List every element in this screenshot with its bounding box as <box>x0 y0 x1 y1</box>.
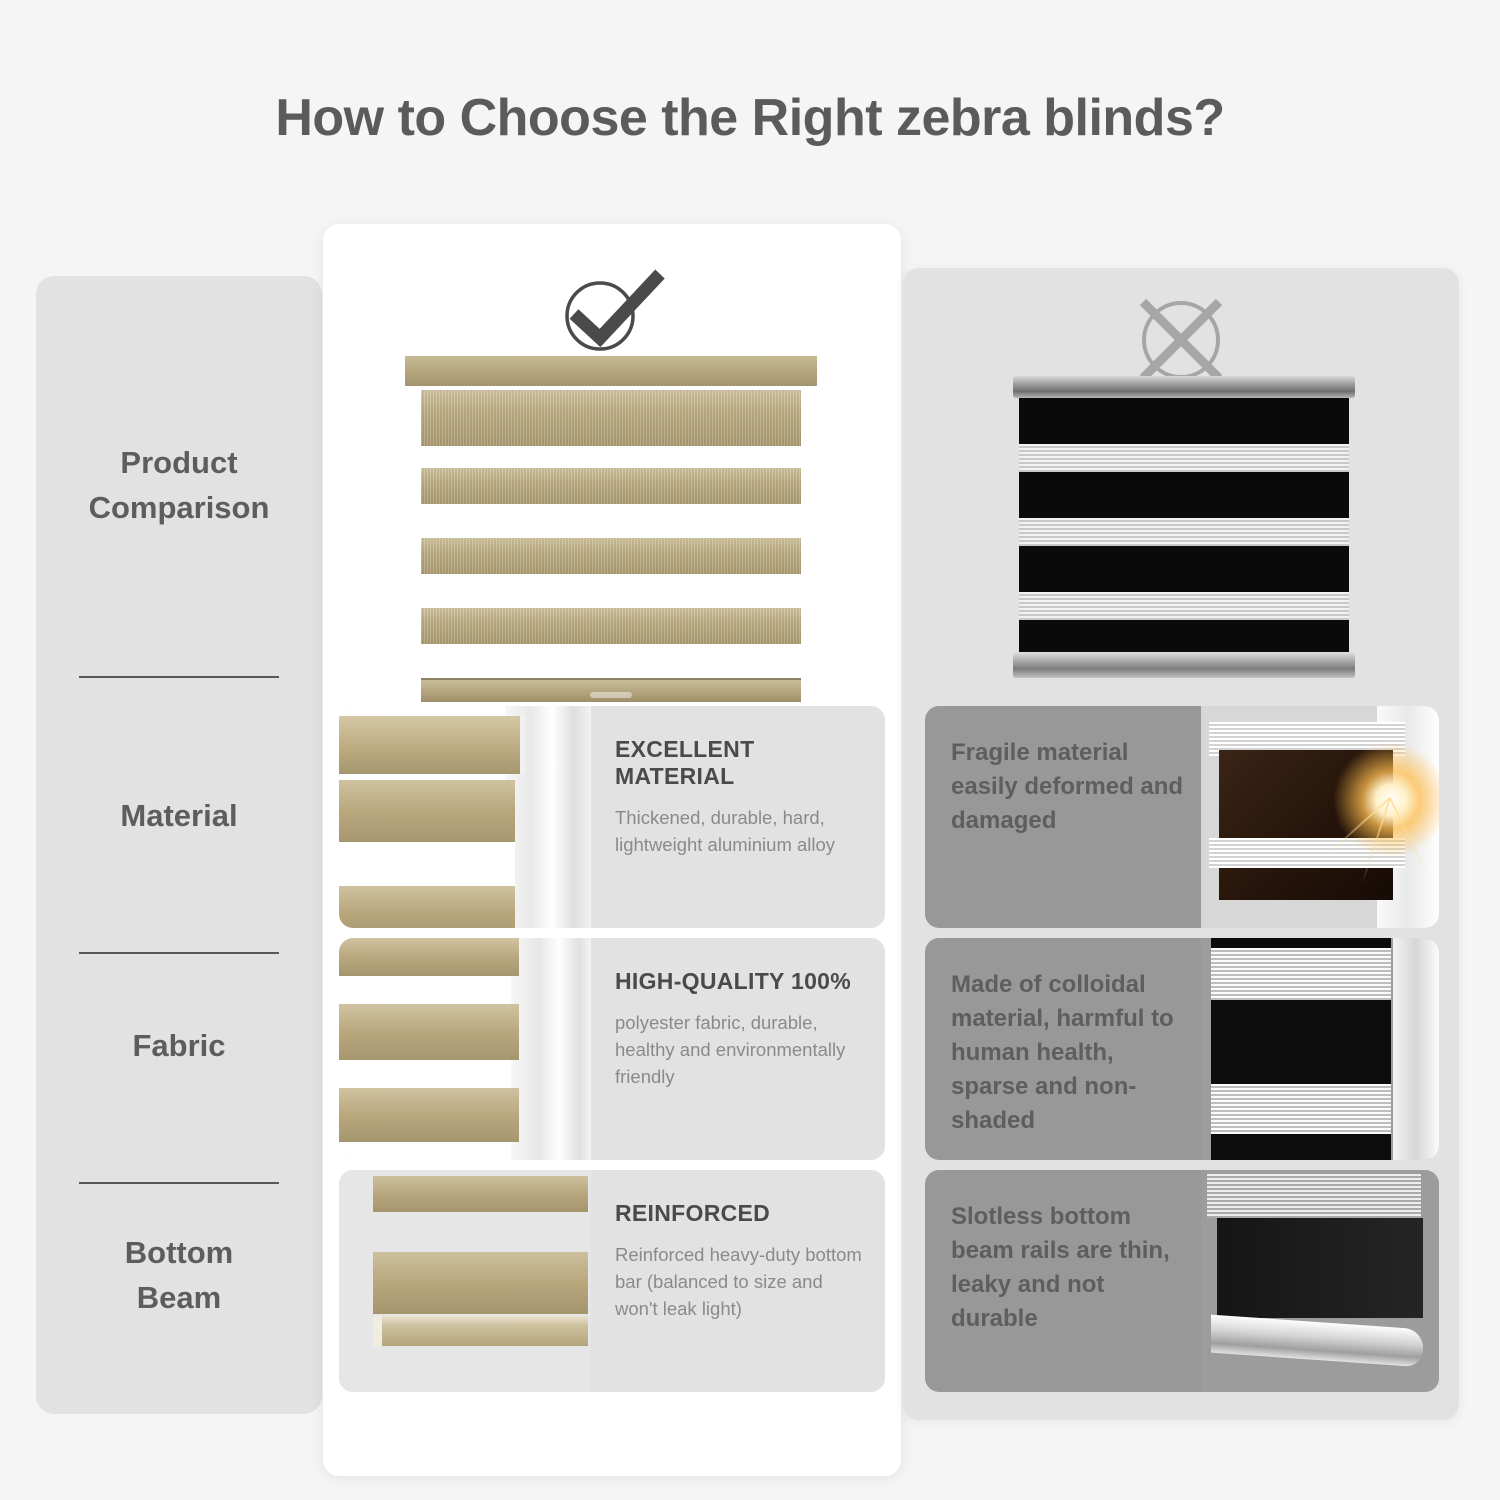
bad-feature-photo-material <box>1201 706 1439 928</box>
rail-divider-1 <box>79 676 279 678</box>
infographic-root: How to Choose the Right zebra blinds? Pr… <box>0 0 1500 1500</box>
sheer-band <box>1019 518 1349 546</box>
feature-heading: REINFORCED <box>615 1200 865 1227</box>
good-feature-photo-fabric <box>339 938 591 1160</box>
good-feature-text-fabric: HIGH-QUALITY 100% polyester fabric, dura… <box>591 938 885 1160</box>
good-feature-photo-bottom-beam <box>339 1170 591 1392</box>
bottom-bar <box>421 678 801 702</box>
good-feature-text-material: EXCELLENT MATERIAL Thickened, durable, h… <box>591 706 885 928</box>
blind-body <box>1019 398 1349 652</box>
feature-body: Reinforced heavy-duty bottom bar (balanc… <box>615 1241 865 1322</box>
feature-body: Made of colloidal material, harmful to h… <box>951 968 1191 1138</box>
pull-handle <box>590 692 632 698</box>
rail-divider-3 <box>79 1182 279 1184</box>
rail-label-material: Material <box>36 776 322 856</box>
slat <box>421 608 801 644</box>
rail-divider-2 <box>79 952 279 954</box>
feature-heading: EXCELLENT MATERIAL <box>615 736 865 790</box>
good-feature-bottom-beam: REINFORCED Reinforced heavy-duty bottom … <box>339 1170 885 1392</box>
category-rail: Product Comparison Material Fabric Botto… <box>36 276 322 1414</box>
feature-heading: HIGH-QUALITY 100% <box>615 968 865 995</box>
bad-hero-product-image <box>1013 376 1355 678</box>
check-circle-icon <box>548 268 678 359</box>
rail-label-text: Material <box>120 794 237 839</box>
rail-label-product-comparison: Product Comparison <box>36 426 322 546</box>
slat <box>421 468 801 504</box>
feature-body: Thickened, durable, hard, lightweight al… <box>615 804 865 858</box>
good-feature-fabric: HIGH-QUALITY 100% polyester fabric, dura… <box>339 938 885 1160</box>
sheer-band <box>1019 592 1349 620</box>
good-product-card: EXCELLENT MATERIAL Thickened, durable, h… <box>323 224 901 1476</box>
feature-body: Slotless bottom beam rails are thin, lea… <box>951 1200 1191 1336</box>
slat <box>421 538 801 574</box>
headrail <box>405 356 817 386</box>
bad-product-card: Fragile material easily deformed and dam… <box>903 268 1459 1420</box>
bad-feature-fabric: Made of colloidal material, harmful to h… <box>925 938 1439 1160</box>
bad-feature-photo-fabric <box>1201 938 1439 1160</box>
rail-label-text: Fabric <box>132 1024 225 1069</box>
bad-feature-text-material: Fragile material easily deformed and dam… <box>925 706 1201 928</box>
good-feature-photo-material <box>339 706 591 928</box>
bottom-bar <box>1013 652 1355 678</box>
feature-body: polyester fabric, durable, healthy and e… <box>615 1009 865 1090</box>
page-title: How to Choose the Right zebra blinds? <box>0 88 1500 148</box>
feature-body: Fragile material easily deformed and dam… <box>951 736 1191 838</box>
good-feature-material: EXCELLENT MATERIAL Thickened, durable, h… <box>339 706 885 928</box>
good-feature-text-bottom-beam: REINFORCED Reinforced heavy-duty bottom … <box>591 1170 885 1392</box>
good-hero-product-image <box>405 356 817 704</box>
headrail <box>1013 376 1355 398</box>
bad-feature-bottom-beam: Slotless bottom beam rails are thin, lea… <box>925 1170 1439 1392</box>
rail-label-text: Bottom Beam <box>125 1231 233 1321</box>
slat <box>421 390 801 446</box>
bad-feature-text-bottom-beam: Slotless bottom beam rails are thin, lea… <box>925 1170 1201 1392</box>
bad-feature-text-fabric: Made of colloidal material, harmful to h… <box>925 938 1201 1160</box>
bad-feature-photo-bottom-beam <box>1201 1170 1439 1392</box>
sheer-band <box>1019 444 1349 472</box>
bad-feature-material: Fragile material easily deformed and dam… <box>925 706 1439 928</box>
rail-label-fabric: Fabric <box>36 1006 322 1086</box>
rail-label-text: Product Comparison <box>89 441 270 531</box>
rail-label-bottom-beam: Bottom Beam <box>36 1216 322 1336</box>
